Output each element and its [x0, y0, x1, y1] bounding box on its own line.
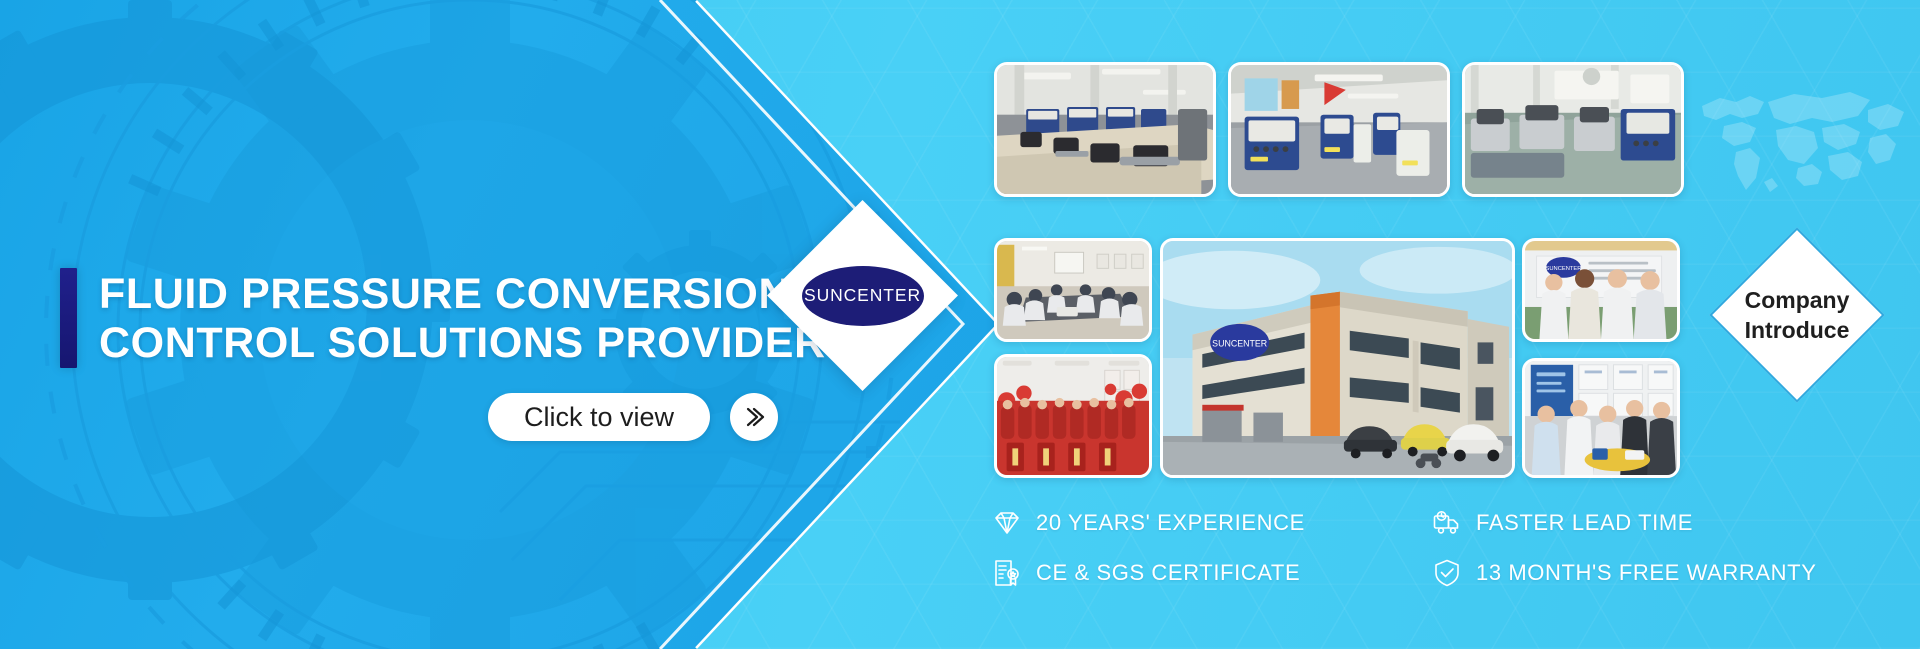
photo-exhibition-booth[interactable]: [1522, 358, 1680, 478]
feature-13-months-free-warranty: 13 MONTH'S FREE WARRANTY: [1432, 558, 1872, 588]
svg-text:SUNCENTER: SUNCENTER: [1212, 338, 1267, 348]
feature-label: 13 MONTH'S FREE WARRANTY: [1476, 560, 1816, 586]
svg-text:SUNCENTER: SUNCENTER: [1546, 266, 1582, 272]
photo-production-floor[interactable]: [1462, 62, 1684, 197]
certificate-icon: [992, 558, 1022, 588]
company-introduce-banner: FLUID PRESSURE CONVERSION AND CONTROL SO…: [0, 0, 1920, 649]
logo-text: SUNCENTER: [804, 285, 921, 306]
photo-office-building[interactable]: SUNCENTER: [1160, 238, 1515, 478]
photo-testing-equipment-hall[interactable]: [1228, 62, 1450, 197]
feature-ce-sgs-certificate: CE & SGS CERTIFICATE: [992, 558, 1432, 588]
page-title: FLUID PRESSURE CONVERSION AND CONTROL SO…: [99, 268, 896, 368]
logo-ellipse: SUNCENTER: [802, 266, 924, 326]
double-chevron-right-icon[interactable]: [730, 393, 778, 441]
gem-icon: [992, 508, 1022, 538]
company-introduce-badge[interactable]: Company Introduce: [1712, 230, 1882, 400]
company-introduce-label: Company Introduce: [1745, 285, 1850, 345]
photo-annual-group-photo[interactable]: [994, 354, 1152, 478]
feature-label: CE & SGS CERTIFICATE: [1036, 560, 1300, 586]
photo-team-with-clients[interactable]: SUNCENTER: [1522, 238, 1680, 342]
truck-icon: [1432, 508, 1462, 538]
feature-faster-lead-time: FASTER LEAD TIME: [1432, 508, 1872, 538]
shield-check-icon: [1432, 558, 1462, 588]
feature-label: 20 YEARS' EXPERIENCE: [1036, 510, 1305, 536]
cta-row: Click to view: [488, 393, 778, 441]
feature-20-years-experience: 20 YEARS' EXPERIENCE: [992, 508, 1432, 538]
click-to-view-button[interactable]: Click to view: [488, 393, 710, 441]
navy-accent-bar: [60, 268, 77, 368]
world-map-silhouette: [1672, 72, 1920, 208]
photo-workshop-assembly-line[interactable]: [994, 62, 1216, 197]
feature-label: FASTER LEAD TIME: [1476, 510, 1693, 536]
suncenter-logo: SUNCENTER: [795, 228, 930, 363]
feature-list: 20 YEARS' EXPERIENCE FASTER LEAD TIME: [992, 498, 1872, 598]
photo-meeting-room[interactable]: [994, 238, 1152, 342]
headline-block: FLUID PRESSURE CONVERSION AND CONTROL SO…: [60, 268, 896, 368]
